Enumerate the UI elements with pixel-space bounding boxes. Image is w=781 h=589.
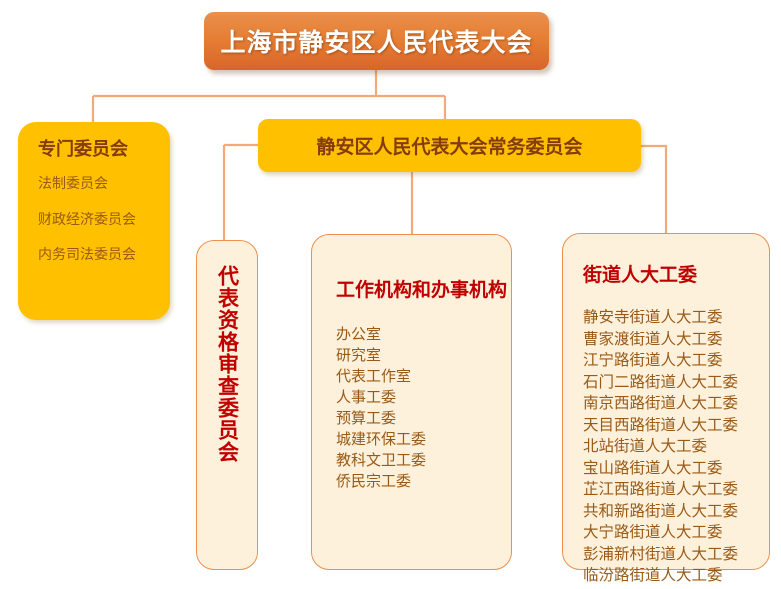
- org-chart-canvas: 上海市静安区人民代表大会 静安区人民代表大会常务委员会 专门委员会 法制委员会 …: [0, 0, 781, 589]
- special-committees-title: 专门委员会: [38, 140, 170, 160]
- work-organs-item: 预算工委: [336, 408, 511, 429]
- node-special-committees[interactable]: 专门委员会 法制委员会 财政经济委员会 内务司法委员会: [18, 122, 170, 320]
- street-committees-item: 天目西路街道人大工委: [583, 415, 769, 437]
- work-organs-item: 城建环保工委: [336, 429, 511, 450]
- special-committees-item: 法制委员会: [38, 176, 170, 193]
- work-organs-item: 教科文卫工委: [336, 450, 511, 471]
- work-organs-item: 办公室: [336, 324, 511, 345]
- street-committees-item: 芷江西路街道人大工委: [583, 479, 769, 501]
- node-standing-committee[interactable]: 静安区人民代表大会常务委员会: [258, 119, 641, 172]
- connector-to-street-committees: [641, 146, 666, 233]
- work-organs-item: 侨民宗工委: [336, 471, 511, 492]
- street-committees-item: 宝山路街道人大工委: [583, 458, 769, 480]
- node-qualification-review-committee[interactable]: 代表资格审查委员会: [196, 240, 258, 570]
- work-organs-item: 研究室: [336, 345, 511, 366]
- street-committees-item: 江宁路街道人大工委: [583, 350, 769, 372]
- street-committees-title: 街道人大工委: [583, 260, 769, 287]
- street-committees-item: 曹家渡街道人大工委: [583, 329, 769, 351]
- node-work-organs[interactable]: 工作机构和办事机构 办公室 研究室 代表工作室 人事工委 预算工委 城建环保工委…: [311, 234, 512, 570]
- street-committees-item: 大宁路街道人大工委: [583, 522, 769, 544]
- work-organs-title: 工作机构和办事机构: [336, 275, 511, 302]
- street-committees-item: 南京西路街道人大工委: [583, 393, 769, 415]
- street-committees-item: 静安寺街道人大工委: [583, 307, 769, 329]
- street-committees-item: 共和新路街道人大工委: [583, 501, 769, 523]
- node-street-committees[interactable]: 街道人大工委 静安寺街道人大工委 曹家渡街道人大工委 江宁路街道人大工委 石门二…: [562, 233, 770, 570]
- root-node-label: 上海市静安区人民代表大会: [220, 23, 532, 59]
- street-committees-item: 临汾路街道人大工委: [583, 565, 769, 587]
- street-committees-item: 北站街道人大工委: [583, 436, 769, 458]
- work-organs-item: 人事工委: [336, 387, 511, 408]
- street-committees-item: 彭浦新村街道人大工委: [583, 544, 769, 566]
- root-node-people-congress[interactable]: 上海市静安区人民代表大会: [204, 12, 549, 70]
- standing-committee-label: 静安区人民代表大会常务委员会: [316, 132, 582, 159]
- qualification-review-committee-label: 代表资格审查委员会: [217, 265, 238, 569]
- special-committees-item: 内务司法委员会: [38, 247, 170, 264]
- work-organs-item: 代表工作室: [336, 366, 511, 387]
- special-committees-item: 财政经济委员会: [38, 212, 170, 229]
- street-committees-item: 石门二路街道人大工委: [583, 372, 769, 394]
